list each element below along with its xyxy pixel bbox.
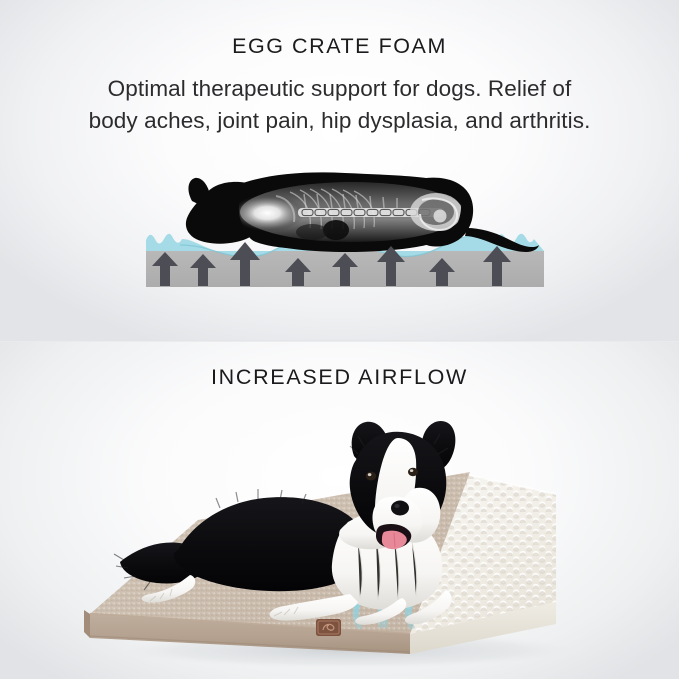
product-photo-dog-on-bed [58,402,624,672]
logo-patch [316,619,341,636]
xray-support-diagram [140,168,550,310]
dog-nose [391,501,409,516]
xray-overlay [234,182,464,242]
page-title-increased-airflow: INCREASED AIRFLOW [0,365,679,390]
dog-right-eye [408,468,418,476]
description-line-2: body aches, joint pain, hip dysplasia, a… [0,108,679,134]
pelvis-hip [410,193,462,231]
dog-left-eye [366,472,376,481]
infographic-page: EGG CRATE FOAM Optimal therapeutic suppo… [0,0,679,679]
page-title-egg-crate-foam: EGG CRATE FOAM [0,34,679,59]
description-line-1: Optimal therapeutic support for dogs. Re… [0,76,679,102]
